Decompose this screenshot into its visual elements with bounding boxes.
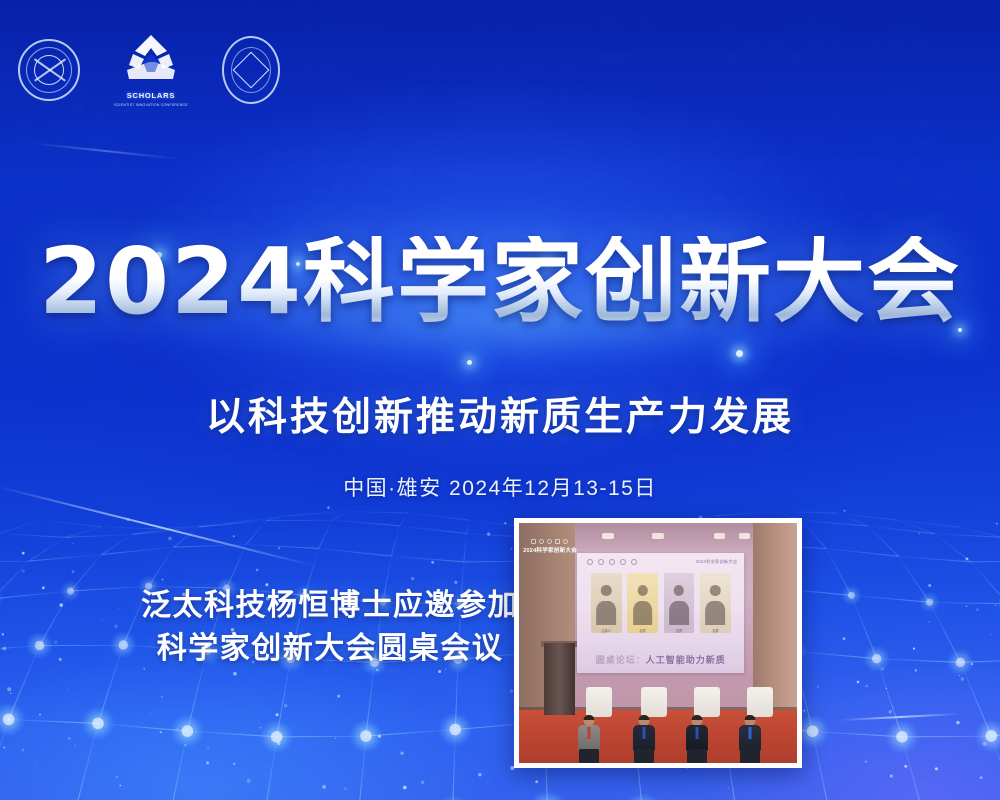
portrait-name: 主持人 (591, 628, 622, 633)
event-photo-frame: 2024科学家创新大会 2024科学家创新大会 主持人 (514, 518, 802, 768)
title-block: 2024科学家创新大会 (0, 236, 1000, 328)
photo-side-banner: 2024科学家创新大会 (523, 539, 576, 554)
page-subtitle: 以科技创新推动新质生产力发展 (0, 386, 1000, 442)
chair (694, 687, 720, 717)
page-title: 2024科学家创新大会 (0, 236, 1000, 328)
photo-side-banner-text: 2024科学家创新大会 (523, 546, 576, 554)
panelist-portrait: 嘉宾 (700, 573, 731, 633)
ceiling-light (714, 533, 725, 539)
screen-session-main: 人工智能助力新质 (646, 655, 726, 665)
sparkle-icon (467, 360, 472, 365)
photo-wall-right (753, 523, 797, 710)
organization-seal-left-icon (18, 39, 80, 101)
sparkle-icon (736, 350, 743, 357)
screen-icon (631, 559, 637, 565)
screen-icon-row (587, 559, 637, 565)
event-dateline: 中国·雄安 2024年12月13-15日 (0, 472, 1000, 502)
caption-line-1: 泛太科技杨恒博士应邀参加 (140, 585, 520, 628)
panelist-portrait-row: 主持人 嘉宾 嘉宾 嘉宾 (591, 573, 731, 633)
conference-poster: SCHOLARS SCIENTIST INNOVATION CONFERENCE… (0, 0, 1000, 800)
ceiling-light (739, 533, 750, 539)
photo-caption: 泛太科技杨恒博士应邀参加 科学家创新大会圆桌会议 (140, 585, 520, 670)
chair (586, 687, 612, 717)
chair (747, 687, 773, 717)
portrait-name: 嘉宾 (627, 628, 658, 633)
banner-triangle-icon (555, 539, 560, 544)
screen-icon (598, 559, 604, 565)
organization-seal-right-icon (222, 36, 280, 104)
banner-icon (563, 539, 568, 544)
scholars-logo-text: SCHOLARS (127, 91, 176, 100)
screen-triangle-icon (620, 559, 626, 565)
scholars-logo-subtext: SCIENTIST INNOVATION CONFERENCE (114, 103, 188, 107)
triangle-svg (121, 32, 181, 88)
scholars-triangle-logo-icon: SCHOLARS SCIENTIST INNOVATION CONFERENCE (114, 32, 188, 107)
presentation-screen: 2024科学家创新大会 主持人 嘉宾 嘉宾 (577, 553, 744, 673)
logo-row: SCHOLARS SCIENTIST INNOVATION CONFERENCE (18, 32, 280, 107)
ceiling-light (652, 533, 663, 539)
panelist-portrait: 嘉宾 (627, 573, 658, 633)
caption-line-2: 科学家创新大会圆桌会议 (140, 628, 520, 671)
portrait-name: 嘉宾 (700, 628, 731, 633)
ceiling-light (602, 533, 613, 539)
banner-icon (547, 539, 552, 544)
screen-session-prefix: 圆桌论坛： (596, 655, 646, 665)
screen-icon (587, 559, 593, 565)
panelist-portrait: 嘉宾 (664, 573, 695, 633)
screen-session-title: 圆桌论坛：人工智能助力新质 (577, 653, 744, 666)
banner-icon (539, 539, 544, 544)
chair (641, 687, 667, 717)
portrait-name: 嘉宾 (664, 628, 695, 633)
screen-icon (609, 559, 615, 565)
event-photo: 2024科学家创新大会 2024科学家创新大会 主持人 (519, 523, 797, 763)
banner-icon (531, 539, 536, 544)
panelist-portrait: 主持人 (591, 573, 622, 633)
podium (544, 643, 575, 715)
screen-brand-text: 2024科学家创新大会 (696, 559, 738, 565)
